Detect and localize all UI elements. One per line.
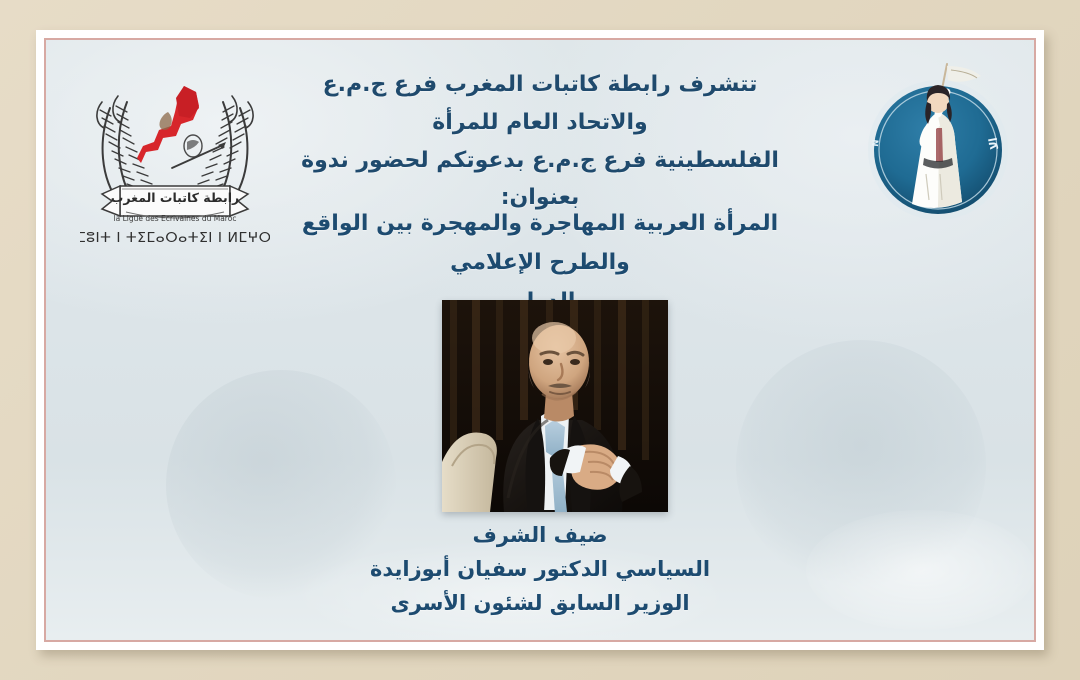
- guest-of-honour-caption: ضيف الشرف السياسي الدكتور سفيان أبوزايدة…: [46, 518, 1034, 620]
- invitation-heading: تتشرف رابطة كاتبات المغرب فرع ج.م.ع والا…: [46, 66, 1034, 217]
- guest-role-label: ضيف الشرف: [46, 518, 1034, 552]
- poster-slide: رابطة كاتبات المغرب la Ligue des Ecrivai…: [46, 40, 1034, 640]
- guest-portrait-photo: [442, 300, 668, 512]
- poster-frame: رابطة كاتبات المغرب la Ligue des Ecrivai…: [36, 30, 1044, 650]
- guest-name: السياسي الدكتور سفيان أبوزايدة: [46, 552, 1034, 586]
- guest-former-position: الوزير السابق لشئون الأسرى: [46, 586, 1034, 620]
- seminar-title-line-1: المرأة العربية المهاجرة والمهجرة بين الو…: [261, 204, 819, 282]
- poster-canvas: رابطة كاتبات المغرب la Ligue des Ecrivai…: [0, 0, 1080, 680]
- invitation-line-1: تتشرف رابطة كاتبات المغرب فرع ج.م.ع والا…: [296, 66, 784, 142]
